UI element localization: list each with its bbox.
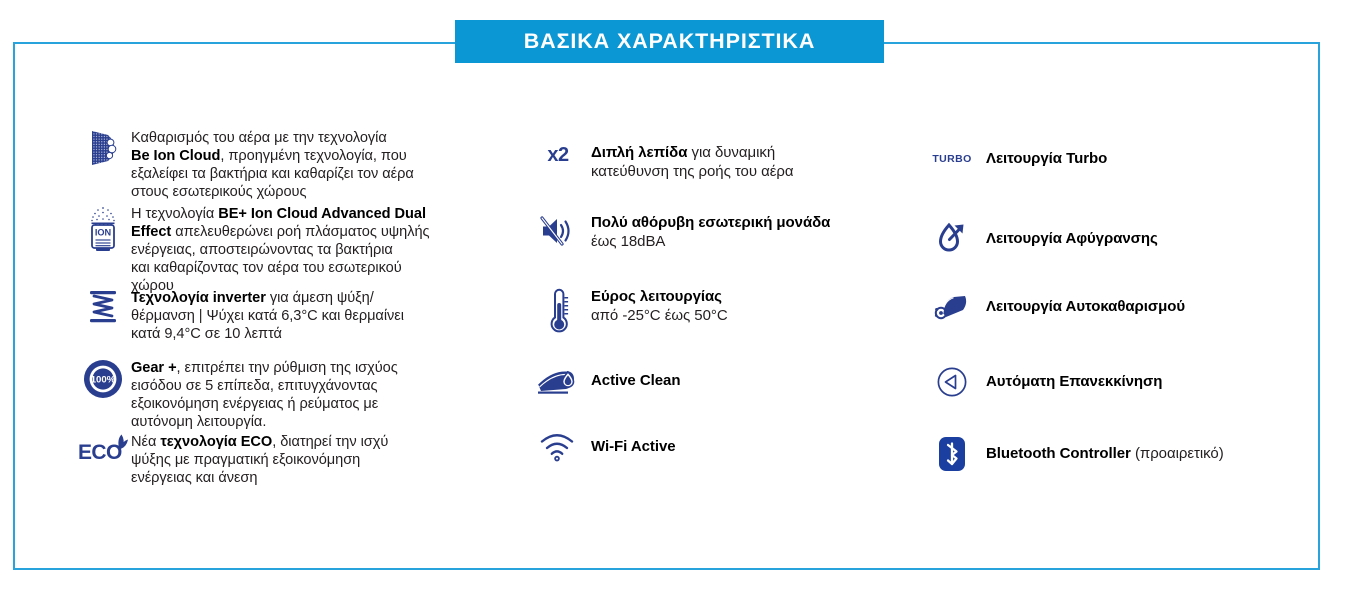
feature-line: και καθαρίζοντας τον αέρα του εσωτερικού xyxy=(131,259,430,277)
feature-text: Bluetooth Controller (προαιρετικό) xyxy=(986,445,1224,464)
feature-line: ενέργειας και άνεση xyxy=(131,469,388,487)
feature-line: Πολύ αθόρυβη εσωτερική μονάδα xyxy=(591,214,830,233)
feature-line: Be Ion Cloud, προηγμένη τεχνολογία, που xyxy=(131,147,414,165)
feature-item: x2 Διπλή λεπίδα για δυναμικήκατεύθυνση τ… xyxy=(525,144,794,181)
hundred-percent-icon: 100% xyxy=(75,358,131,400)
feature-text: Αυτόματη Επανεκκίνηση xyxy=(986,373,1162,392)
feature-line: Η τεχνολογία BE+ Ion Cloud Advanced Dual xyxy=(131,205,430,223)
feature-text: Νέα τεχνολογία ECO, διατηρεί την ισχύψύξ… xyxy=(131,432,388,487)
self-clean-icon xyxy=(918,293,986,321)
feature-text: Λειτουργία Αυτοκαθαρισμού xyxy=(986,298,1185,317)
feature-item: 100% Gear +, επιτρέπει την ρύθμιση της ι… xyxy=(75,358,398,431)
feature-line: Αυτόματη Επανεκκίνηση xyxy=(986,373,1162,392)
feature-item: ION Η τεχνολογία BE+ Ion Cloud Advanced … xyxy=(75,204,430,295)
feature-line: κατεύθυνση της ροής του αέρα xyxy=(591,163,794,182)
wifi-icon xyxy=(525,432,591,462)
feature-item: Active Clean xyxy=(525,366,680,396)
x2-label: x2 xyxy=(547,144,568,167)
feature-item: Αυτόματη Επανεκκίνηση xyxy=(918,366,1162,398)
feature-line: κατά 9,4°C σε 10 λεπτά xyxy=(131,325,404,343)
feature-line: έως 18dBA xyxy=(591,233,830,252)
feature-item: Πολύ αθόρυβη εσωτερική μονάδαέως 18dBA xyxy=(525,214,830,251)
feature-text: Λειτουργία Turbo xyxy=(986,150,1107,169)
active-clean-icon xyxy=(525,366,591,396)
feature-line: Καθαρισμός του αέρα με την τεχνολογία xyxy=(131,129,414,147)
ion-generator-icon: ION xyxy=(75,204,131,256)
svg-text:ECO: ECO xyxy=(78,441,122,464)
feature-line: Gear +, επιτρέπει την ρύθμιση της ισχύος xyxy=(131,359,398,377)
feature-item: ECO Νέα τεχνολογία ECO, διατηρεί την ισχ… xyxy=(75,432,388,487)
feature-item: Λειτουργία Αφύγρανσης xyxy=(918,222,1158,256)
inverter-coil-icon xyxy=(75,288,131,328)
section-title: ΒΑΣΙΚΑ ΧΑΡΑΚΤΗΡΙΣΤΙΚΑ xyxy=(524,29,816,54)
feature-line: αυτόνομη λειτουργία. xyxy=(131,413,398,431)
turbo-label: TURBO xyxy=(932,153,971,165)
feature-line: Τεχνολογία inverter για άμεση ψύξη/ xyxy=(131,289,404,307)
bluetooth-icon xyxy=(918,436,986,472)
air-purifier-icon xyxy=(75,128,131,168)
svg-text:100%: 100% xyxy=(91,375,116,386)
feature-item: Λειτουργία Αυτοκαθαρισμού xyxy=(918,293,1185,321)
feature-text: Wi-Fi Active xyxy=(591,438,676,457)
feature-item: TURBO Λειτουργία Turbo xyxy=(918,150,1107,169)
feature-line: Λειτουργία Αυτοκαθαρισμού xyxy=(986,298,1185,317)
feature-text: Η τεχνολογία BE+ Ion Cloud Advanced Dual… xyxy=(131,204,430,295)
feature-text: Τεχνολογία inverter για άμεση ψύξη/θέρμα… xyxy=(131,288,404,343)
feature-text: Καθαρισμός του αέρα με την τεχνολογίαBe … xyxy=(131,128,414,201)
feature-line: στους εσωτερικούς χώρους xyxy=(131,183,414,201)
feature-line: από -25°C έως 50°C xyxy=(591,307,728,326)
eco-leaf-icon: ECO xyxy=(75,432,131,466)
feature-text: Λειτουργία Αφύγρανσης xyxy=(986,230,1158,249)
feature-item: Εύρος λειτουργίαςαπό -25°C έως 50°C xyxy=(525,288,728,334)
feature-line: Bluetooth Controller (προαιρετικό) xyxy=(986,445,1224,464)
feature-line: Effect απελευθερώνει ροή πλάσματος υψηλή… xyxy=(131,223,430,241)
feature-item: Τεχνολογία inverter για άμεση ψύξη/θέρμα… xyxy=(75,288,404,343)
feature-text: Gear +, επιτρέπει την ρύθμιση της ισχύος… xyxy=(131,358,398,431)
feature-line: Λειτουργία Αφύγρανσης xyxy=(986,230,1158,249)
feature-line: θέρμανση | Ψύχει κατά 6,3°C και θερμαίνε… xyxy=(131,307,404,325)
section-banner: ΒΑΣΙΚΑ ΧΑΡΑΚΤΗΡΙΣΤΙΚΑ xyxy=(455,20,884,63)
x2-dual-blade-icon: x2 xyxy=(525,144,591,167)
feature-item: Wi-Fi Active xyxy=(525,432,676,462)
speaker-mute-icon xyxy=(525,214,591,248)
feature-text: Διπλή λεπίδα για δυναμικήκατεύθυνση της … xyxy=(591,144,794,181)
feature-line: εξαλείφει τα βακτήρια και καθαρίζει τον … xyxy=(131,165,414,183)
feature-line: Νέα τεχνολογία ECO, διατηρεί την ισχύ xyxy=(131,433,388,451)
feature-line: ενέργειας, αποστειρώνοντας τα βακτήρια xyxy=(131,241,430,259)
feature-line: Διπλή λεπίδα για δυναμική xyxy=(591,144,794,163)
feature-text: Εύρος λειτουργίαςαπό -25°C έως 50°C xyxy=(591,288,728,325)
feature-line: Active Clean xyxy=(591,372,680,391)
feature-line: ψύξης με πραγματική εξοικονόμηση xyxy=(131,451,388,469)
feature-line: Wi-Fi Active xyxy=(591,438,676,457)
dehumidify-drop-icon xyxy=(918,222,986,256)
svg-text:ION: ION xyxy=(95,228,112,238)
feature-text: Πολύ αθόρυβη εσωτερική μονάδαέως 18dBA xyxy=(591,214,830,251)
feature-text: Active Clean xyxy=(591,372,680,391)
auto-restart-icon xyxy=(918,366,986,398)
turbo-icon: TURBO xyxy=(918,153,986,165)
feature-line: Εύρος λειτουργίας xyxy=(591,288,728,307)
thermometer-icon xyxy=(525,288,591,334)
feature-line: εισόδου σε 5 επίπεδα, επιτυγχάνοντας xyxy=(131,377,398,395)
feature-line: Λειτουργία Turbo xyxy=(986,150,1107,169)
feature-item: Bluetooth Controller (προαιρετικό) xyxy=(918,436,1224,472)
feature-item: Καθαρισμός του αέρα με την τεχνολογίαBe … xyxy=(75,128,414,201)
feature-line: εξοικονόμηση ενέργειας ή ρεύματος με xyxy=(131,395,398,413)
features-grid: Καθαρισμός του αέρα με την τεχνολογίαBe … xyxy=(0,0,1345,590)
